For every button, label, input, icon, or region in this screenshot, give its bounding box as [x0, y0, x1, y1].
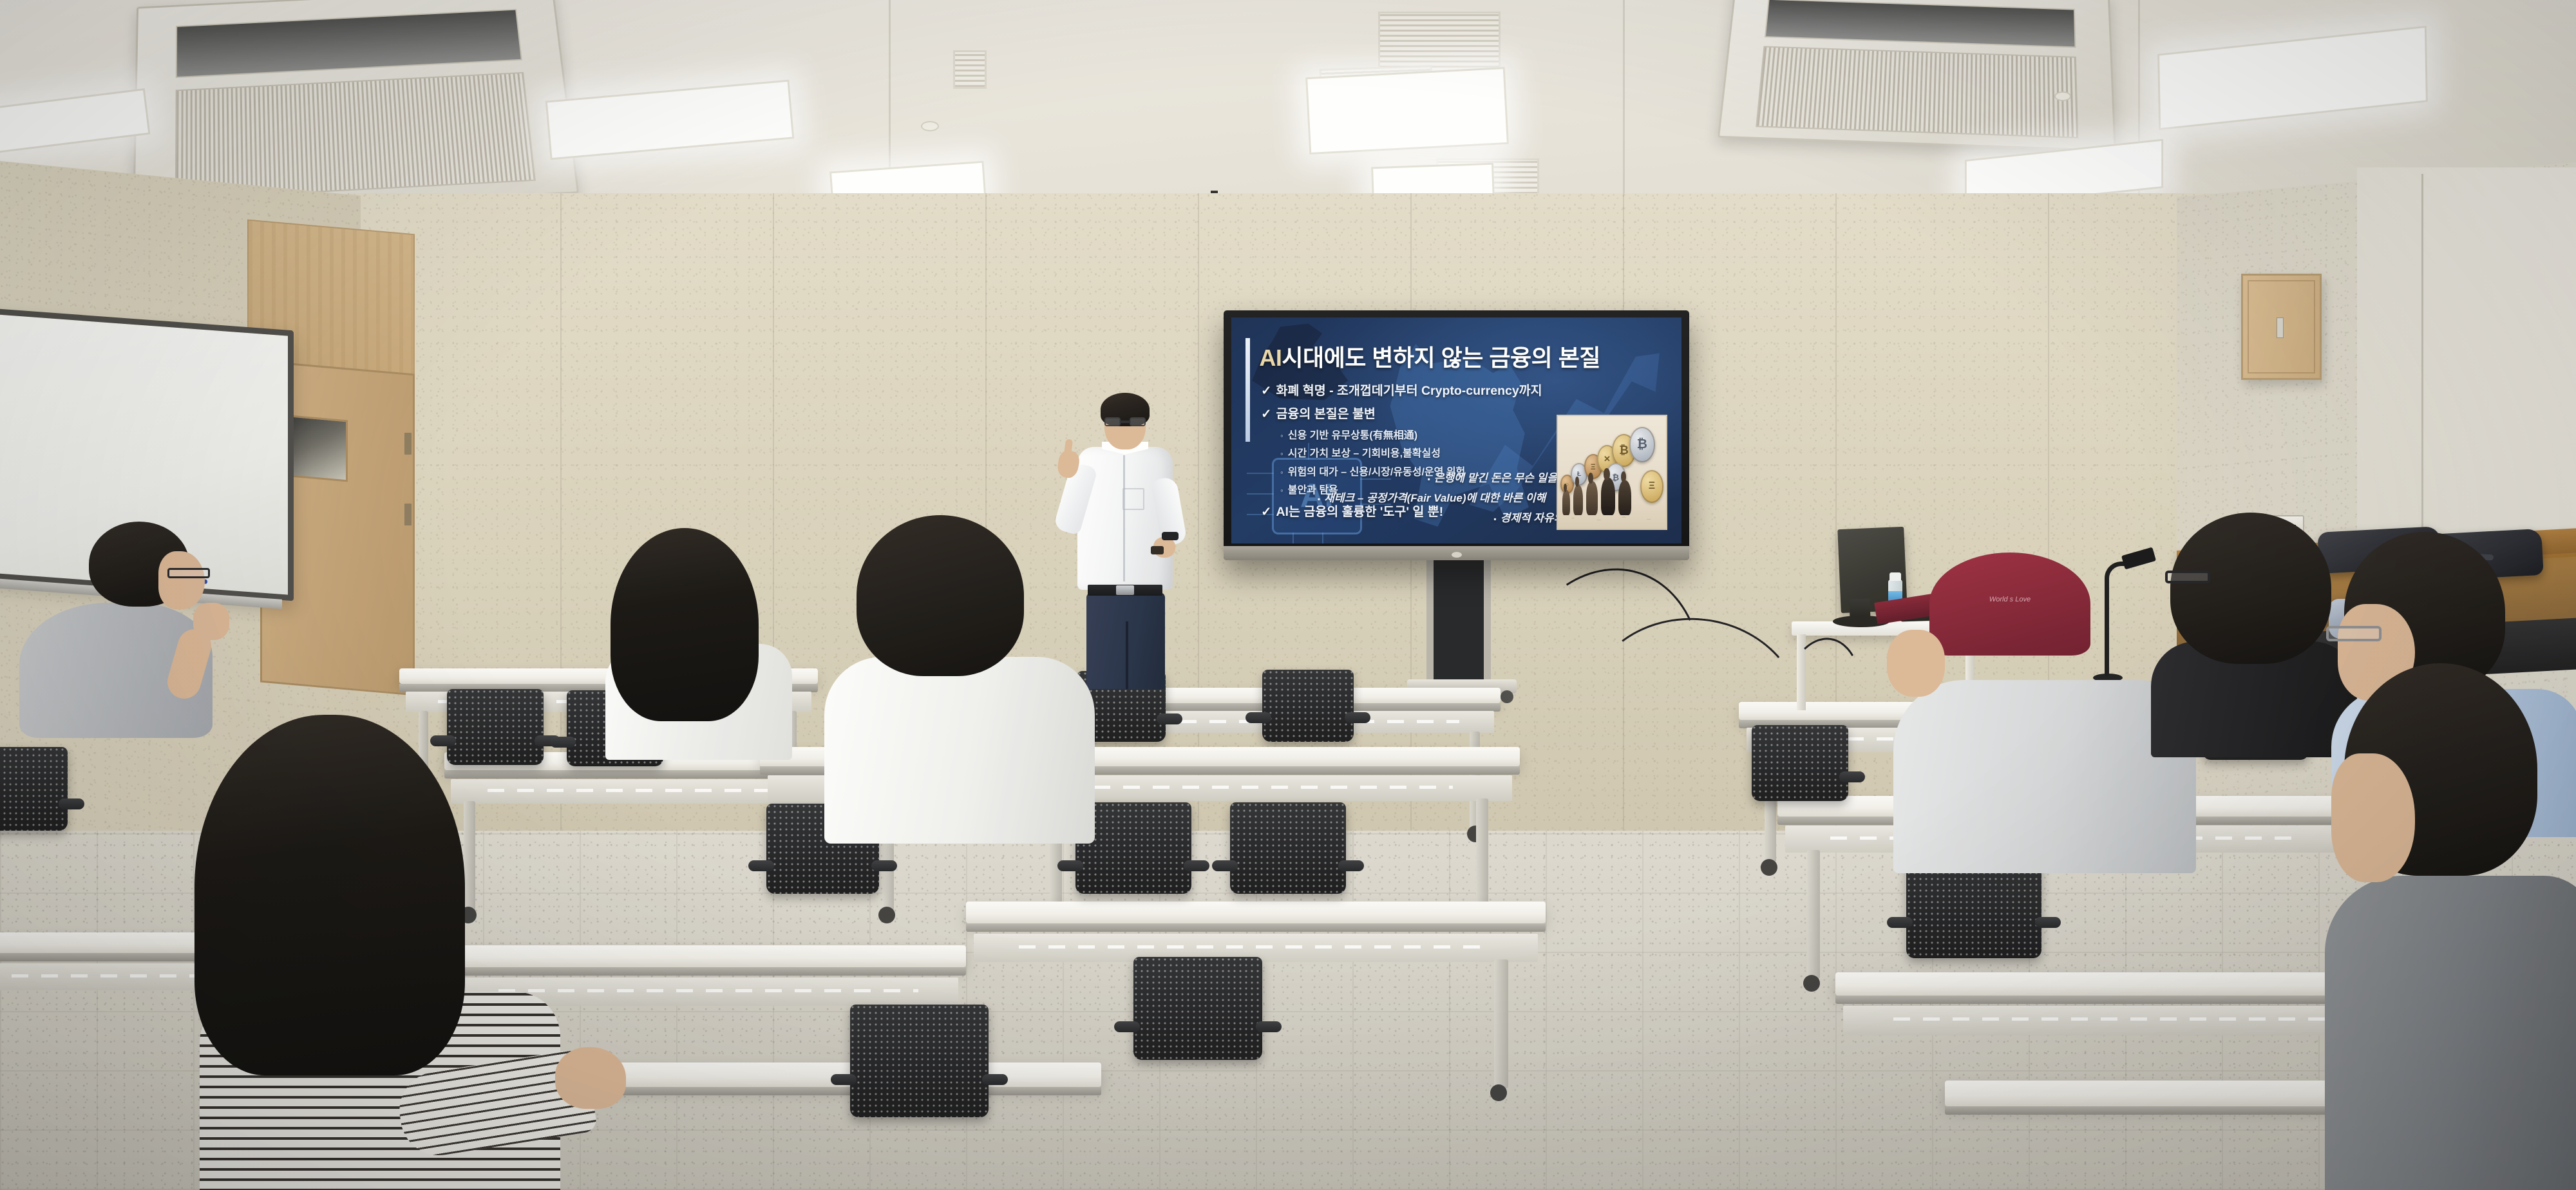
- audience-member-striped-top: [122, 715, 612, 1190]
- eyeglasses-icon: [1104, 417, 1146, 426]
- slide-footer-line: ▪은행에 맡긴 돈은 무슨 일을 하나?: [1276, 469, 1587, 485]
- audience-hair-long: [194, 715, 465, 1075]
- chair[interactable]: [1133, 957, 1262, 1060]
- audience-face: [2331, 753, 2415, 882]
- slide-title: AI시대에도 변하지 않는 금융의 본질: [1259, 339, 1600, 373]
- audience-torso: [824, 657, 1095, 844]
- slide-crypto-evolution-image: ○ Ł Ξ ✕ ₿ ₿ ₿ Ξ: [1557, 415, 1667, 530]
- audience-hair: [857, 515, 1024, 676]
- ceiling-ac-unit-right: [1718, 0, 2116, 152]
- slide-title-rest: 시대에도 변하지 않는 금융의 본질: [1282, 345, 1600, 371]
- smoke-detector: [921, 121, 939, 131]
- chair[interactable]: [850, 1005, 989, 1117]
- baseball-cap: World s Love: [1929, 552, 2090, 656]
- audience-member-white-tshirt: [818, 509, 1127, 844]
- ceiling-light-panel: [0, 88, 150, 154]
- classroom-photo-scene: AI시대에도 변하지 않는 금융의 본질 ✓화폐 혁명 - 조개껍데기부터 Cr…: [0, 0, 2576, 1190]
- ceiling-light-panel: [545, 80, 795, 160]
- audience-hand: [1887, 630, 1945, 697]
- wall-cabinet[interactable]: [2241, 274, 2322, 380]
- smoke-detector: [2054, 91, 2071, 101]
- eyeglasses-icon: [2165, 571, 2210, 583]
- audience-member-gray-jacket: [2325, 683, 2576, 1190]
- slide-bullet-text: 화폐 혁명 - 조개껍데기부터 Crypto-currency까지: [1276, 384, 1542, 398]
- slide-title-ai: AI: [1259, 345, 1282, 371]
- display-brand-logo: [1452, 552, 1462, 558]
- audience-torso: [2325, 876, 2576, 1190]
- presentation-slide: AI시대에도 변하지 않는 금융의 본질 ✓화폐 혁명 - 조개껍데기부터 Cr…: [1231, 317, 1681, 543]
- check-icon: ✓: [1261, 505, 1271, 519]
- audience-hair: [2170, 513, 2331, 664]
- bullet-square-icon: ▪: [1493, 515, 1496, 524]
- bullet-square-icon: ▪: [1428, 475, 1430, 484]
- audience-hands-clasped: [555, 1047, 626, 1109]
- slide-footer-lines: ▪은행에 맡긴 돈은 무슨 일을 하나? ▪재테크 – 공정가격(Fair Va…: [1276, 469, 1587, 529]
- cap-text: World s Love: [1989, 596, 2031, 604]
- slide-sub-bullet-item: ◦신용 기반 유무상통(有無相通): [1280, 426, 1540, 442]
- chair[interactable]: [1262, 670, 1354, 742]
- chair[interactable]: [1230, 802, 1346, 894]
- chair[interactable]: [0, 747, 68, 831]
- check-icon: ✓: [1261, 384, 1271, 398]
- slide-sub-bullet-text: 신용 기반 유무상통(有無相通): [1288, 430, 1417, 441]
- presentation-display[interactable]: AI시대에도 변하지 않는 금융의 본질 ✓화폐 혁명 - 조개껍데기부터 Cr…: [1224, 310, 1689, 560]
- slide-footer-line: ▪경제적 자유의 실현: [1276, 509, 1587, 525]
- audience-face: [158, 551, 205, 609]
- bullet-dot-icon: ◦: [1280, 449, 1283, 458]
- presentation-clicker[interactable]: [1151, 546, 1164, 554]
- slide-bullet-item: ✓금융의 본질은 불변: [1261, 403, 1540, 422]
- bullet-square-icon: ▪: [1318, 495, 1320, 504]
- slide-sub-bullet-text: 시간 가치 보상 – 기회비용,불확실성: [1288, 448, 1441, 459]
- eyeglasses-icon: [2326, 626, 2382, 641]
- presenter-shirt-pocket: [1122, 488, 1144, 510]
- slide-footer-text: 재테크 – 공정가격(Fair Value)에 대한 바른 이해: [1324, 492, 1546, 504]
- ceiling-light-panel: [2157, 26, 2428, 130]
- table-row-center-front: [966, 902, 1546, 923]
- ceiling-emergency-light: [953, 50, 987, 89]
- slide-bullet-item: ✓화폐 혁명 - 조개껍데기부터 Crypto-currency까지: [1261, 380, 1540, 399]
- display-stand-column: [1426, 555, 1491, 684]
- ceiling-light-panel: [1305, 67, 1509, 155]
- check-icon: ✓: [1261, 407, 1271, 421]
- eyeglasses-icon: [167, 568, 210, 578]
- slide-bullet-text: 금융의 본질은 불변: [1276, 407, 1375, 421]
- audience-member-white-blouse: [592, 515, 818, 753]
- slide-footer-line: ▪재테크 – 공정가격(Fair Value)에 대한 바른 이해: [1276, 489, 1587, 505]
- audience-member-gray-tshirt: [19, 522, 238, 734]
- bullet-dot-icon: ◦: [1280, 431, 1283, 440]
- slide-accent-bar: [1245, 338, 1250, 442]
- slide-sub-bullet-item: ◦시간 가치 보상 – 기회비용,불확실성: [1280, 444, 1540, 460]
- audience-hair-long: [611, 528, 759, 721]
- presenter-wristwatch: [1162, 532, 1179, 540]
